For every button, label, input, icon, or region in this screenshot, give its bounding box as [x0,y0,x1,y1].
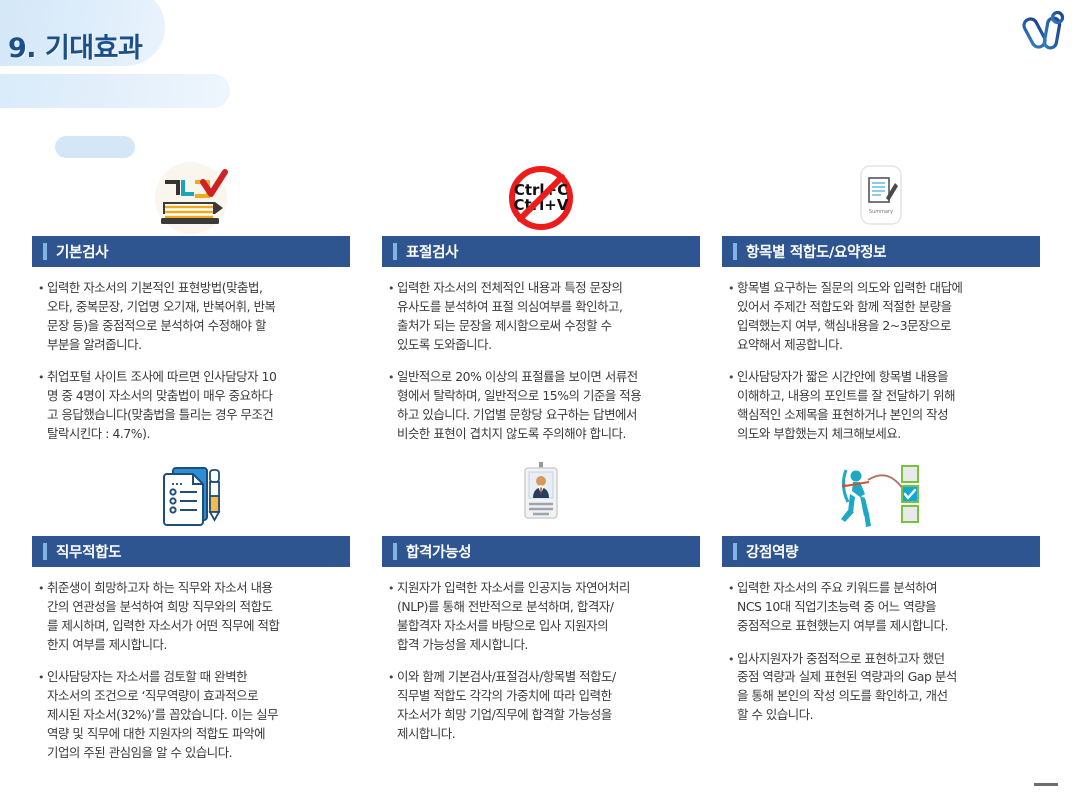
header-accent-bar [393,243,397,260]
card-body-basic-check: • 입력한 자소서의 기본적인 표현방법(맞춤법, 오타, 중복문장, 기업명 … [32,267,350,444]
bullet-item: • 입사지원자가 중점적으로 표현하고자 했던 중점 역량과 실제 표현된 역량… [728,650,1036,725]
footer-divider [1034,783,1058,786]
bullet-dot-icon: • [38,668,47,762]
card-item-fitness-summary: Summary 항목별 적합도/요약정보 • 항목별 요구하는 질문의 의도와 … [722,160,1040,458]
bullet-item: • 취준생이 희망하고자 하는 직무와 자소서 내용 간의 연관성을 분석하여 … [38,579,346,654]
bullet-text: 인사담당자는 자소서를 검토할 때 완벽한 자소서의 조건으로 ‘직무역량이 효… [47,668,278,762]
card-title: 합격가능성 [406,541,471,562]
card-icon-basic-check [32,160,350,236]
accent-pill [55,136,135,158]
card-icon-job-fitness [32,460,350,536]
bullet-item: • 취업포털 사이트 조사에 따르면 인사담당자 10 명 중 4명이 자소서의… [38,368,346,443]
header-accent-bar [733,243,737,260]
card-icon-plagiarism-check: Ctrl+C Ctrl+V [382,160,700,236]
bullet-dot-icon: • [38,579,47,654]
card-title: 직무적합도 [56,541,121,562]
bullet-item: • 일반적으로 20% 이상의 표절률을 보이면 서류전 형에서 탈락하며, 일… [388,368,696,443]
bullet-dot-icon: • [38,279,47,354]
bullet-item: • 이와 함께 기본검사/표절검사/항목별 적합도/ 직무별 적합도 각각의 가… [388,668,696,743]
icon-caption: Summary [869,209,893,215]
bullet-dot-icon: • [728,368,737,443]
card-title: 항목별 적합도/요약정보 [746,241,886,262]
bullet-text: 입력한 자소서의 기본적인 표현방법(맞춤법, 오타, 중복문장, 기업명 오기… [47,279,276,354]
card-body-job-fitness: • 취준생이 희망하고자 하는 직무와 자소서 내용 간의 연관성을 분석하여 … [32,567,350,763]
bullet-dot-icon: • [728,650,737,725]
bullet-text: 이와 함께 기본검사/표절검사/항목별 적합도/ 직무별 적합도 각각의 가중치… [397,668,616,743]
card-job-fitness: 직무적합도 • 취준생이 희망하고자 하는 직무와 자소서 내용 간의 연관성을… [32,460,350,777]
card-header-item-fitness-summary: 항목별 적합도/요약정보 [722,236,1040,267]
card-body-item-fitness-summary: • 항목별 요구하는 질문의 의도와 입력한 대답에 있어서 주제간 적합도와 … [722,267,1040,444]
page-title: 9. 기대효과 [8,26,142,65]
card-icon-strength-competency [722,460,1040,536]
banner-shape-bottom [0,74,230,108]
card-basic-check: 기본검사 • 입력한 자소서의 기본적인 표현방법(맞춤법, 오타, 중복문장,… [32,160,350,458]
header-accent-bar [733,543,737,560]
card-body-pass-probability: • 지원자가 입력한 자소서를 인공지능 자연어처리 (NLP)를 통해 전반적… [382,567,700,744]
card-body-strength-competency: • 입력한 자소서의 주요 키워드를 분석하여 NCS 10대 직업기초능력 중… [722,567,1040,725]
card-body-plagiarism-check: • 입력한 자소서의 전체적인 내용과 특정 문장의 유사도를 분석하여 표절 … [382,267,700,444]
card-strength-competency: 강점역량 • 입력한 자소서의 주요 키워드를 분석하여 NCS 10대 직업기… [722,460,1040,739]
bullet-text: 취업포털 사이트 조사에 따르면 인사담당자 10 명 중 4명이 자소서의 맞… [47,368,276,443]
card-plagiarism-check: Ctrl+C Ctrl+V 표절검사 • 입력한 자소서의 전체적인 내용과 특… [382,160,700,458]
card-title: 강점역량 [746,541,798,562]
card-header-plagiarism-check: 표절검사 [382,236,700,267]
card-header-basic-check: 기본검사 [32,236,350,267]
bullet-dot-icon: • [728,279,737,354]
header-accent-bar [393,543,397,560]
bullet-item: • 인사담당자는 자소서를 검토할 때 완벽한 자소서의 조건으로 ‘직무역량이… [38,668,346,762]
card-header-strength-competency: 강점역량 [722,536,1040,567]
bullet-item: • 인사담당자가 짧은 시간안에 항목별 내용을 이해하고, 내용의 포인트를 … [728,368,1036,443]
bullet-text: 입력한 자소서의 전체적인 내용과 특정 문장의 유사도를 분석하여 표절 의심… [397,279,622,354]
header-accent-bar [43,243,47,260]
card-title: 표절검사 [406,241,458,262]
card-header-job-fitness: 직무적합도 [32,536,350,567]
bullet-text: 항목별 요구하는 질문의 의도와 입력한 대답에 있어서 주제간 적합도와 함께… [737,279,962,354]
bullet-text: 인사담당자가 짧은 시간안에 항목별 내용을 이해하고, 내용의 포인트를 잘 … [737,368,955,443]
bullet-item: • 입력한 자소서의 기본적인 표현방법(맞춤법, 오타, 중복문장, 기업명 … [38,279,346,354]
bullet-text: 지원자가 입력한 자소서를 인공지능 자연어처리 (NLP)를 통해 전반적으로… [397,579,630,654]
header-accent-bar [43,543,47,560]
card-title: 기본검사 [56,241,108,262]
card-pass-probability: 합격가능성 • 지원자가 입력한 자소서를 인공지능 자연어처리 (NLP)를 … [382,460,700,758]
bullet-dot-icon: • [728,579,737,636]
title-banner: 9. 기대효과 [0,0,250,112]
card-icon-item-fitness-summary: Summary [722,160,1040,236]
bullet-item: • 입력한 자소서의 주요 키워드를 분석하여 NCS 10대 직업기초능력 중… [728,579,1036,636]
bullet-text: 취준생이 희망하고자 하는 직무와 자소서 내용 간의 연관성을 분석하여 희망… [47,579,279,654]
bullet-dot-icon: • [38,368,47,443]
bullet-text: 일반적으로 20% 이상의 표절률을 보이면 서류전 형에서 탈락하며, 일반적… [397,368,641,443]
card-header-pass-probability: 합격가능성 [382,536,700,567]
company-logo-icon [1022,8,1068,52]
bullet-text: 입력한 자소서의 주요 키워드를 분석하여 NCS 10대 직업기초능력 중 어… [737,579,948,636]
card-icon-pass-probability [382,460,700,536]
bullet-item: • 입력한 자소서의 전체적인 내용과 특정 문장의 유사도를 분석하여 표절 … [388,279,696,354]
bullet-text: 입사지원자가 중점적으로 표현하고자 했던 중점 역량과 실제 표현된 역량과의… [737,650,957,725]
bullet-dot-icon: • [388,579,397,654]
bullet-dot-icon: • [388,368,397,443]
bullet-item: • 지원자가 입력한 자소서를 인공지능 자연어처리 (NLP)를 통해 전반적… [388,579,696,654]
bullet-dot-icon: • [388,668,397,743]
bullet-dot-icon: • [388,279,397,354]
bullet-item: • 항목별 요구하는 질문의 의도와 입력한 대답에 있어서 주제간 적합도와 … [728,279,1036,354]
